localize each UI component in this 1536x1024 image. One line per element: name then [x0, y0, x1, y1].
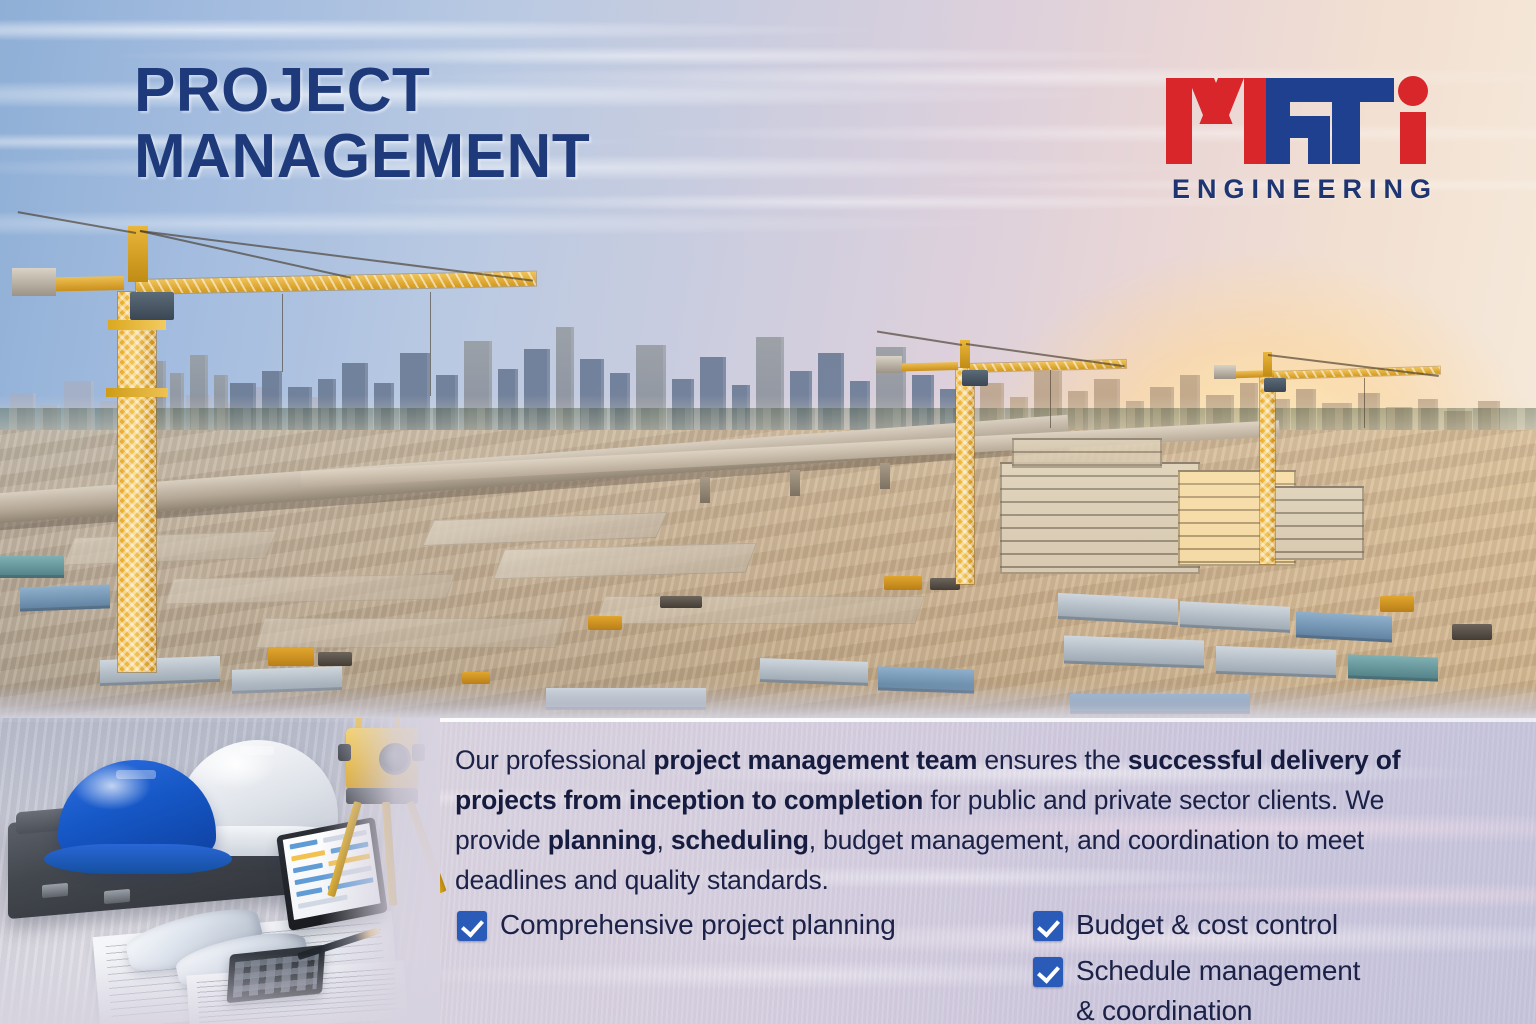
tower-crane-left [100, 212, 520, 672]
feature-label-3: Schedule management & coordination [1076, 951, 1360, 1024]
logo-wordmark: ENGINEERING [1166, 174, 1444, 205]
title-line-1: PROJECT [134, 58, 590, 124]
company-logo: ENGINEERING [1166, 68, 1444, 205]
page-title: PROJECT MANAGEMENT [134, 58, 590, 190]
feature-label-3-line1: Schedule management [1076, 955, 1360, 986]
feature-label-2: Budget & cost control [1076, 905, 1338, 945]
description-paragraph: Our professional project management team… [455, 740, 1465, 900]
feature-label-1: Comprehensive project planning [500, 905, 896, 945]
title-line-2: MANAGEMENT [134, 124, 590, 190]
feature-item-2[interactable]: Budget & cost control [1033, 905, 1338, 945]
equipment-photo [0, 718, 440, 1024]
feature-item-1[interactable]: Comprehensive project planning [457, 905, 896, 945]
feature-item-3[interactable]: Schedule management & coordination [1033, 951, 1360, 1024]
hero-bottom-fade [0, 684, 1536, 718]
checkbox-checked-icon[interactable] [457, 911, 487, 941]
checkbox-checked-icon[interactable] [1033, 957, 1063, 987]
logo-mark-mhti [1166, 68, 1444, 164]
tower-crane-center [900, 340, 1150, 590]
bottom-panel: Our professional project management team… [0, 718, 1536, 1024]
poster-root: PROJECT MANAGEMENT ENGINEERING [0, 0, 1536, 1024]
checkbox-checked-icon[interactable] [1033, 911, 1063, 941]
feature-label-3-line2: & coordination [1076, 991, 1360, 1024]
tower-crane-right [1232, 352, 1462, 572]
description-block: Our professional project management team… [455, 740, 1465, 900]
